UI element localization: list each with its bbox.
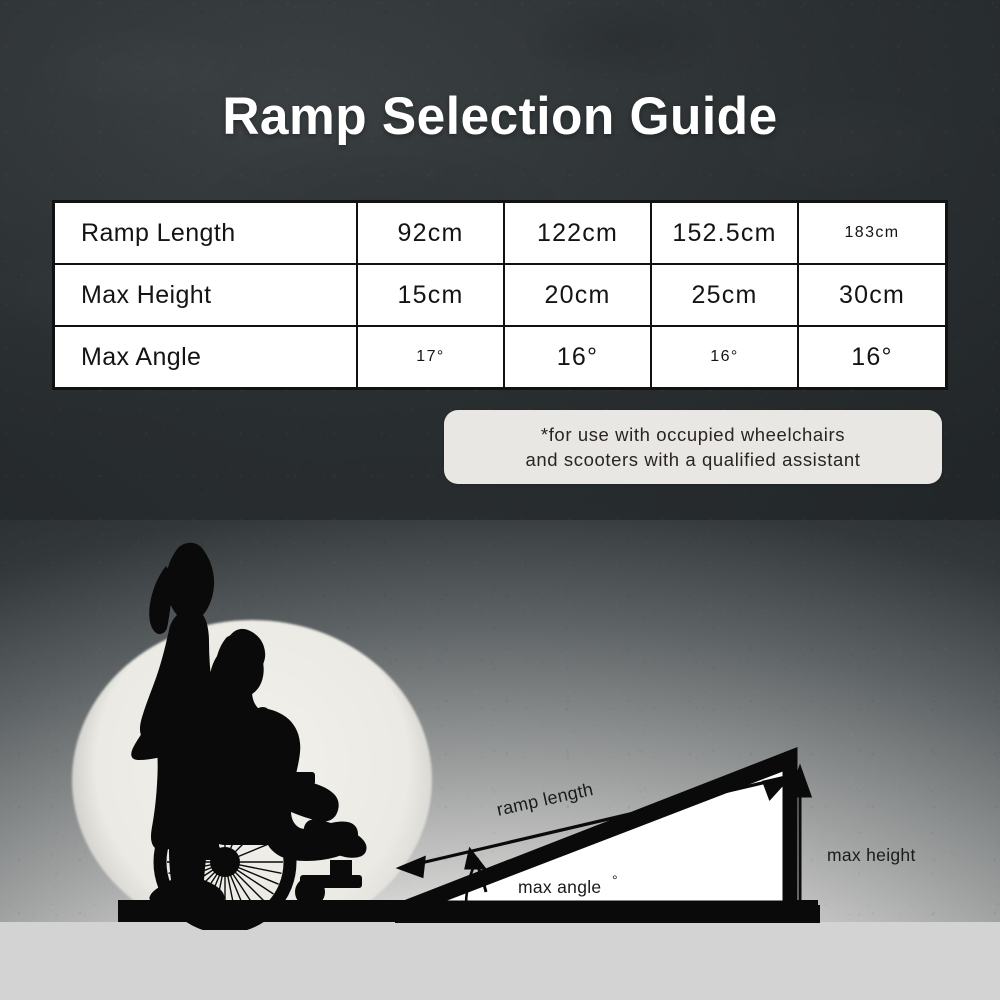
row-label-max-height: Max Height — [55, 264, 357, 326]
cell-max-height-2: 20cm — [504, 264, 651, 326]
footnote-callout: *for use with occupied wheelchairs and s… — [444, 410, 942, 484]
cell-max-angle-2: 16° — [504, 326, 651, 387]
footnote-line-2: and scooters with a qualified assistant — [526, 449, 861, 470]
table-row: Max Angle 17° 16° 16° 16° — [55, 326, 945, 387]
page-title: Ramp Selection Guide — [15, 86, 985, 147]
degree-symbol-icon: ° — [612, 872, 618, 888]
table-row: Max Height 15cm 20cm 25cm 30cm — [55, 264, 945, 326]
max-angle-label: max angle — [518, 877, 601, 898]
table-row: Ramp Length 92cm 122cm 152.5cm 183cm — [55, 203, 945, 264]
spec-table: Ramp Length 92cm 122cm 152.5cm 183cm Max… — [55, 203, 945, 387]
cell-max-angle-4: 16° — [798, 326, 945, 387]
cell-max-height-3: 25cm — [651, 264, 798, 326]
cell-ramp-length-3: 152.5cm — [651, 203, 798, 264]
max-height-label: max height — [827, 845, 916, 866]
footnote-text: *for use with occupied wheelchairs and s… — [516, 422, 871, 472]
cell-max-angle-1: 17° — [357, 326, 504, 387]
bottom-band — [0, 922, 1000, 1000]
cell-ramp-length-1: 92cm — [357, 203, 504, 264]
spec-table-container: Ramp Length 92cm 122cm 152.5cm 183cm Max… — [52, 200, 948, 390]
cell-ramp-length-4: 183cm — [798, 203, 945, 264]
row-label-max-angle: Max Angle — [55, 326, 357, 387]
ramp-selection-guide-poster: Ramp Selection Guide Ramp Length 92cm 12… — [0, 0, 1000, 1000]
ramp-diagram — [0, 510, 1000, 930]
cell-max-height-4: 30cm — [798, 264, 945, 326]
cell-ramp-length-2: 122cm — [504, 203, 651, 264]
cell-max-height-1: 15cm — [357, 264, 504, 326]
footnote-line-1: *for use with occupied wheelchairs — [541, 424, 845, 445]
cell-max-angle-3: 16° — [651, 326, 798, 387]
row-label-ramp-length: Ramp Length — [55, 203, 357, 264]
